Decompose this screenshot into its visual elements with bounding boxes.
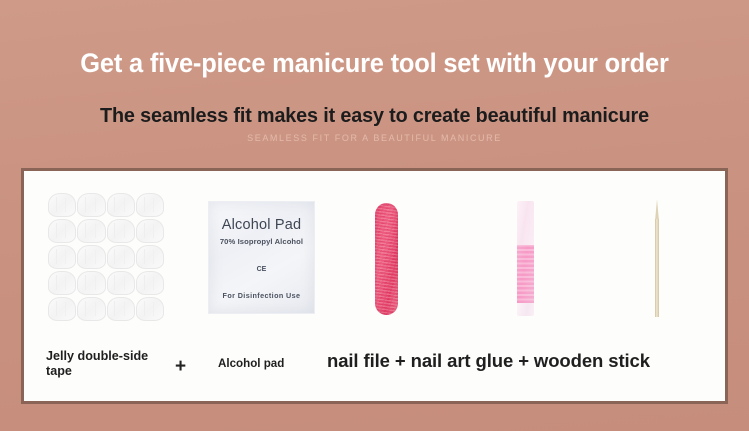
- tape-tab: [136, 219, 164, 243]
- alcohol-pad-image: Alcohol Pad 70% Isopropyl Alcohol CE For…: [208, 201, 315, 314]
- tape-tab: [77, 245, 105, 269]
- wooden-stick-tip: [655, 199, 659, 221]
- tape-tab: [136, 297, 164, 321]
- glue-body: [517, 245, 534, 305]
- tape-tab: [48, 193, 76, 217]
- tape-tab: [107, 297, 135, 321]
- alcohol-pad-package-usage: For Disinfection Use: [209, 291, 314, 300]
- glue-cap: [517, 201, 534, 247]
- caption-jelly-double-side-tape: Jelly double-side tape: [46, 349, 164, 380]
- tape-tab: [136, 271, 164, 295]
- ce-mark: CE: [209, 266, 314, 273]
- wooden-stick-image: [652, 199, 662, 317]
- tape-tab-grid: [48, 193, 164, 321]
- tape-tab: [107, 271, 135, 295]
- product-set-card-inner: Alcohol Pad 70% Isopropyl Alcohol CE For…: [24, 171, 725, 401]
- tape-tab: [77, 219, 105, 243]
- tagline: SEAMLESS FIT FOR A BEAUTIFUL MANICURE: [0, 133, 749, 143]
- tape-tab: [48, 297, 76, 321]
- tape-tab: [77, 193, 105, 217]
- product-image-row: Alcohol Pad 70% Isopropyl Alcohol CE For…: [24, 171, 725, 339]
- wooden-stick-shaft: [655, 219, 659, 317]
- alcohol-pad-package-subtitle: 70% Isopropyl Alcohol: [209, 237, 314, 246]
- tape-tab: [107, 219, 135, 243]
- product-caption-row: Jelly double-side tape + Alcohol pad nai…: [24, 339, 725, 401]
- caption-separator-plus: +: [175, 355, 186, 378]
- tape-tab: [136, 193, 164, 217]
- tape-tab: [48, 219, 76, 243]
- nail-art-glue-image: [517, 201, 534, 316]
- caption-alcohol-pad: Alcohol pad: [218, 357, 284, 371]
- nail-file-image: [375, 203, 398, 315]
- tape-tab: [48, 245, 76, 269]
- tape-tab: [77, 297, 105, 321]
- subtitle: The seamless fit makes it easy to create…: [13, 104, 736, 128]
- promo-banner: Get a five-piece manicure tool set with …: [0, 0, 749, 431]
- tape-tab: [48, 271, 76, 295]
- page-title: Get a five-piece manicure tool set with …: [15, 48, 734, 79]
- caption-tools-group: nail file + nail art glue + wooden stick: [327, 350, 650, 373]
- tape-tab: [107, 193, 135, 217]
- product-set-card: Alcohol Pad 70% Isopropyl Alcohol CE For…: [21, 168, 728, 404]
- glue-base: [517, 303, 534, 316]
- jelly-double-side-tape-image: [46, 193, 166, 321]
- tape-tab: [136, 245, 164, 269]
- tape-tab: [77, 271, 105, 295]
- alcohol-pad-package-title: Alcohol Pad: [209, 217, 314, 233]
- tape-tab: [107, 245, 135, 269]
